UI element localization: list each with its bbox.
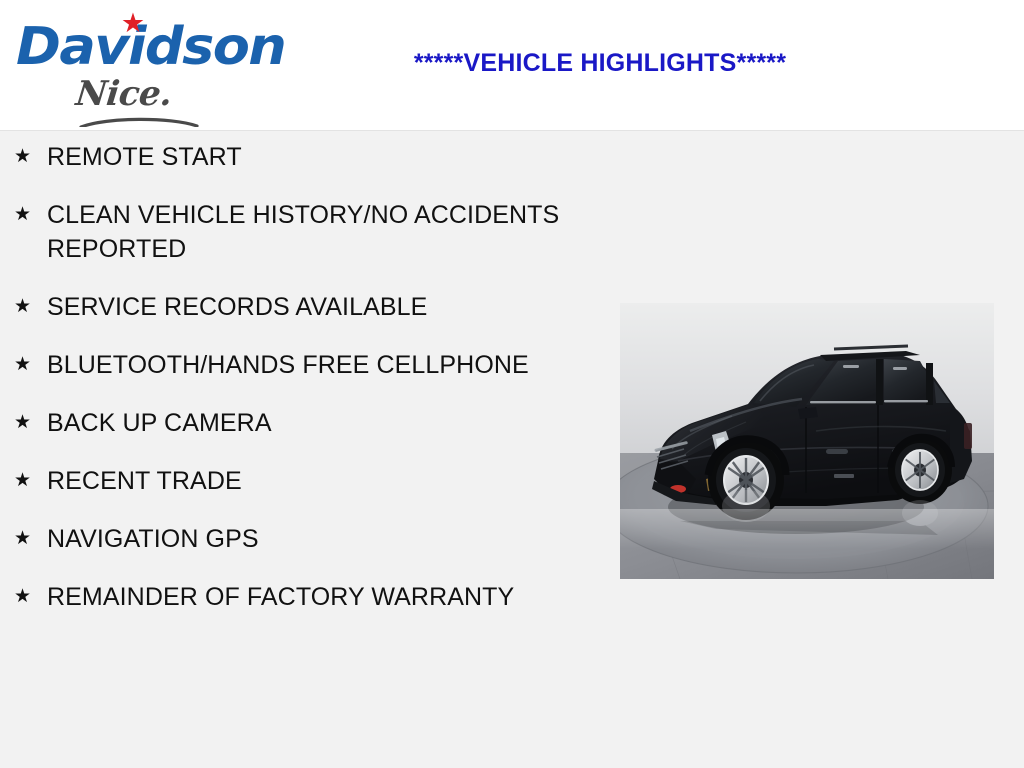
vehicle-photo[interactable] [620,303,994,579]
list-item-label: BLUETOOTH/HANDS FREE CELLPHONE [34,348,560,382]
list-item: ★ REMAINDER OF FACTORY WARRANTY [0,580,560,614]
list-item-label: REMOTE START [34,140,560,174]
list-item-label: NAVIGATION GPS [34,522,560,556]
dealer-logo[interactable]: Davidson ★ Nice. [16,6,271,124]
logo-star-icon: ★ [120,10,146,36]
list-item-label: SERVICE RECORDS AVAILABLE [34,290,560,324]
star-bullet-icon: ★ [14,522,34,556]
star-bullet-icon: ★ [14,580,34,614]
star-bullet-icon: ★ [14,406,34,440]
star-bullet-icon: ★ [14,198,34,232]
star-bullet-icon: ★ [14,464,34,498]
list-item: ★ BLUETOOTH/HANDS FREE CELLPHONE [0,348,560,382]
list-item: ★ CLEAN VEHICLE HISTORY/NO ACCIDENTS REP… [0,198,560,266]
list-item-label: REMAINDER OF FACTORY WARRANTY [34,580,560,614]
page-header: Davidson ★ Nice. *****VEHICLE HIGHLIGHTS… [0,0,1024,131]
list-item-label: RECENT TRADE [34,464,560,498]
list-item: ★ SERVICE RECORDS AVAILABLE [0,290,560,324]
logo-script-word: Nice. [74,74,228,114]
star-bullet-icon: ★ [14,348,34,382]
logo-swoosh-icon [79,115,199,127]
star-bullet-icon: ★ [14,140,34,174]
vehicle-highlights-list: ★ REMOTE START ★ CLEAN VEHICLE HISTORY/N… [0,140,560,638]
list-item: ★ BACK UP CAMERA [0,406,560,440]
page-title: *****VEHICLE HIGHLIGHTS***** [300,48,900,78]
list-item-label: CLEAN VEHICLE HISTORY/NO ACCIDENTS REPOR… [34,198,560,266]
vehicle-highlights-page: Davidson ★ Nice. *****VEHICLE HIGHLIGHTS… [0,0,1024,768]
star-bullet-icon: ★ [14,290,34,324]
list-item: ★ REMOTE START [0,140,560,174]
list-item: ★ NAVIGATION GPS [0,522,560,556]
list-item: ★ RECENT TRADE [0,464,560,498]
list-item-label: BACK UP CAMERA [34,406,560,440]
logo-brand-word: Davidson [16,16,281,78]
